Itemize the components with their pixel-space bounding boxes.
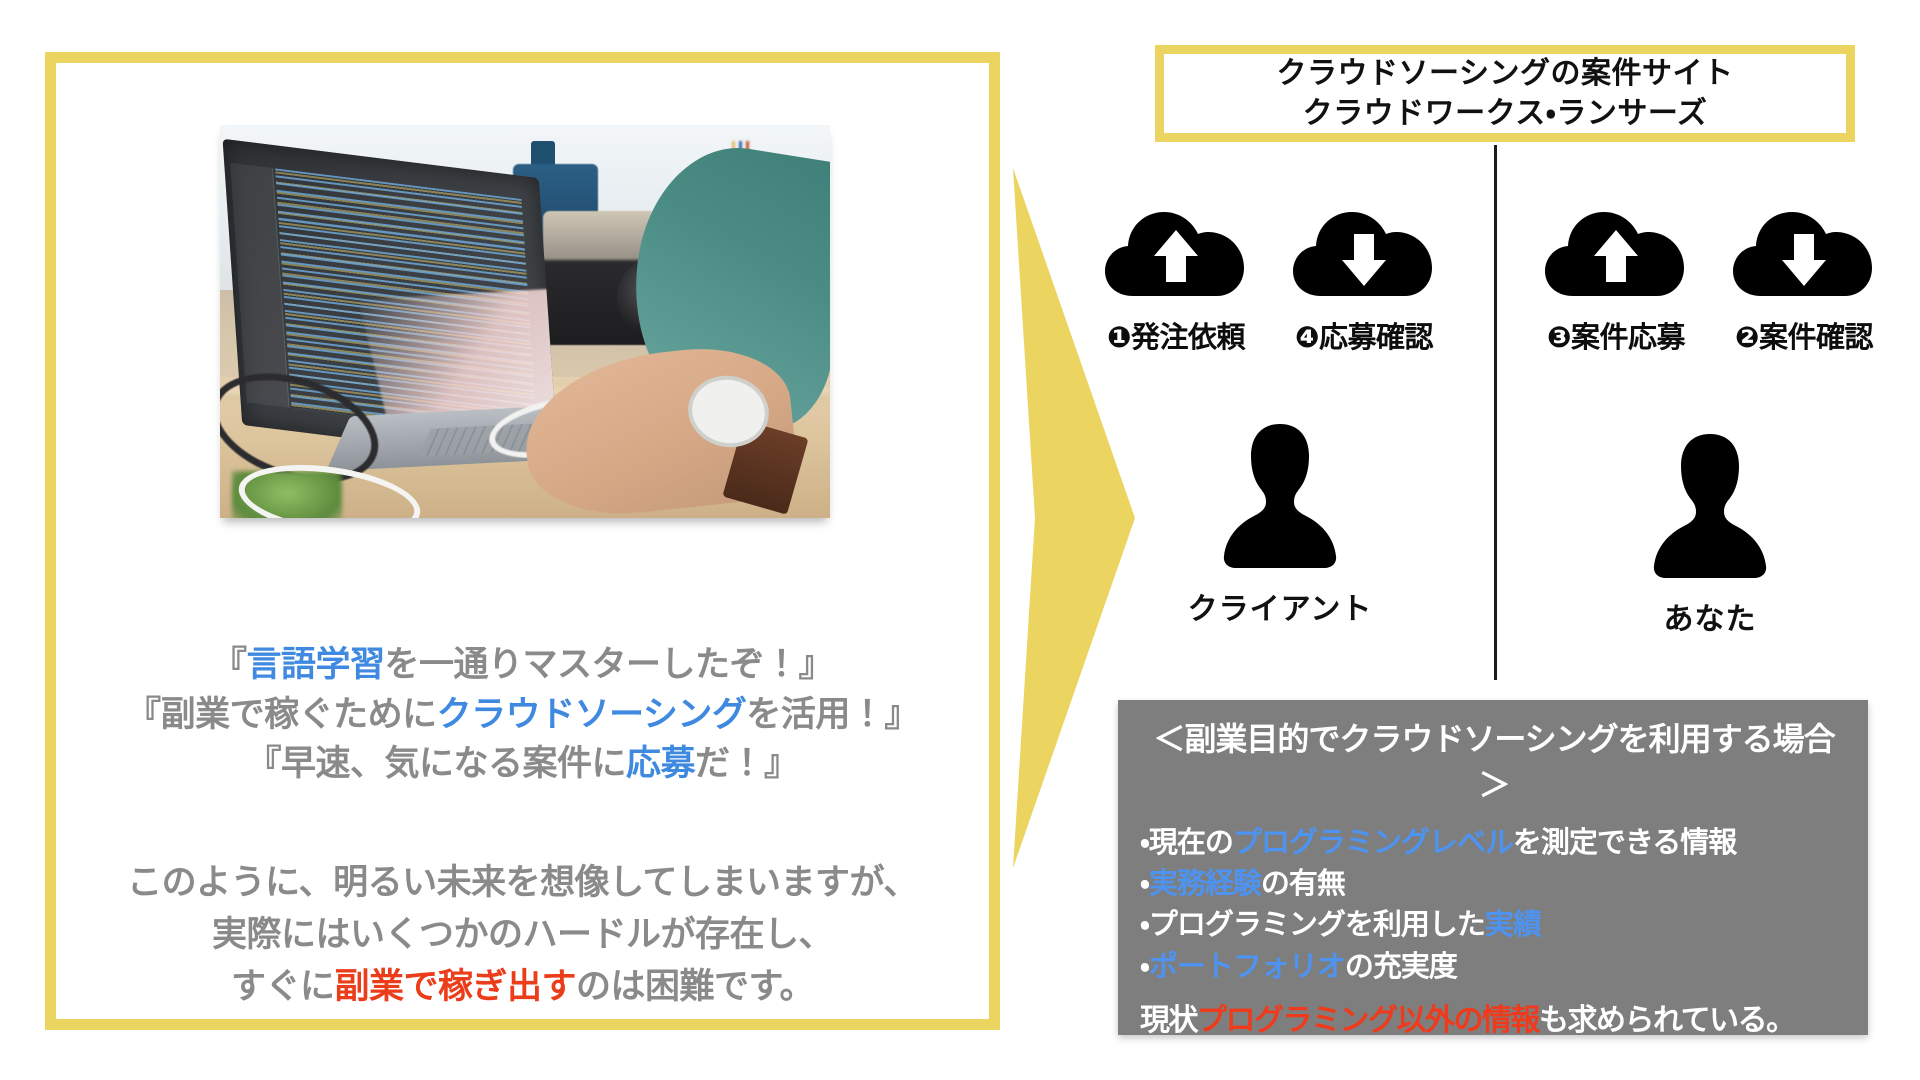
laptop-coding-photo: [220, 125, 830, 518]
notice-bullet: ・実務経験の有無: [1140, 863, 1848, 904]
text-run-2: の有無: [1261, 866, 1345, 900]
worker-flow-steps: ❸案件応募 ❷案件確認: [1540, 196, 1880, 356]
cloud-download-icon: [1288, 196, 1440, 306]
text-line: 『言語学習を一通りマスターしたぞ！』: [86, 641, 959, 691]
notice-box: ＜副業目的でクラウドソーシングを利用する場合＞ ・現在のプログラミングレベルを測…: [1118, 700, 1868, 1035]
text-run-1: 言語学習: [246, 645, 384, 685]
text-run-0: 『副業で稼ぐために: [126, 695, 437, 735]
text-line: 実際にはいくつかのハードルが存在し、: [86, 910, 959, 962]
text-run-0: ・: [1140, 866, 1149, 900]
text-run-2: を活用！』: [746, 695, 919, 735]
left-content-panel: 『言語学習を一通りマスターしたぞ！』『副業で稼ぐためにクラウドソーシングを活用！…: [45, 52, 1000, 1030]
text-run-2: も求められている。: [1539, 1003, 1795, 1038]
cloud-upload-icon: [1100, 196, 1252, 306]
photo-image: [220, 125, 830, 518]
text-run-1: プログラミング以外の情報: [1197, 1003, 1539, 1038]
notice-bullet: ・ポートフォリオの充実度: [1140, 946, 1848, 987]
text-run-2: を一通りマスターしたぞ！』: [385, 645, 834, 685]
quote-block: 『言語学習を一通りマスターしたぞ！』『副業で稼ぐためにクラウドソーシングを活用！…: [86, 641, 959, 790]
vertical-divider: [1494, 145, 1497, 680]
text-run-1: 副業で稼ぎ出す: [334, 967, 576, 1007]
person-silhouette-icon: [1216, 420, 1344, 570]
cloud-upload-icon: [1540, 196, 1692, 306]
actor-you: あなた: [1605, 430, 1815, 638]
text-run-1: ポートフォリオ: [1149, 949, 1345, 983]
text-run-0: ・プログラミングを利用した: [1140, 907, 1485, 941]
text-line: すぐに副業で稼ぎ出すのは困難です。: [86, 962, 959, 1014]
text-run-2: だ！』: [695, 744, 799, 784]
notice-bullet-list: ・現在のプログラミングレベルを測定できる情報・実務経験の有無・プログラミングを利…: [1140, 822, 1848, 987]
header-line-1: クラウドソーシングの案件サイト: [1277, 54, 1734, 94]
text-run-1: 応募: [626, 744, 695, 784]
flow-step-label: ❹応募確認: [1295, 314, 1433, 356]
flow-step: ❸案件応募: [1540, 196, 1692, 356]
flow-step: ❹応募確認: [1288, 196, 1440, 356]
header-line-2: クラウドワークス・ランサーズ: [1303, 94, 1708, 134]
client-flow-steps: ❶発注依頼 ❹応募確認: [1100, 196, 1440, 356]
platform-header-box: クラウドソーシングの案件サイト クラウドワークス・ランサーズ: [1155, 45, 1855, 142]
text-run-1: クラウドソーシング: [437, 695, 747, 735]
actor-label: クライアント: [1188, 584, 1373, 628]
text-run-1: 実務経験: [1149, 866, 1261, 900]
text-run-0: すぐに: [231, 967, 335, 1007]
text-run-0: 実際にはいくつかのハードルが存在し、: [212, 915, 833, 955]
actor-client: クライアント: [1175, 420, 1385, 628]
notice-footer: 現状プログラミング以外の情報も求められている。: [1140, 995, 1848, 1039]
text-line: 『副業で稼ぐためにクラウドソーシングを活用！』: [86, 691, 959, 741]
flow-step-label: ❶発注依頼: [1107, 314, 1245, 356]
text-run-1: プログラミングレベル: [1233, 825, 1513, 859]
notice-bullet: ・プログラミングを利用した実績: [1140, 904, 1848, 945]
conclusion-block: このように、明るい未来を想像してしまいますが、実際にはいくつかのハードルが存在し…: [86, 858, 959, 1013]
flow-step: ❶発注依頼: [1100, 196, 1252, 356]
text-run-0: このように、明るい未来を想像してしまいますが、: [127, 863, 918, 903]
actor-label: あなた: [1664, 594, 1757, 638]
text-run-2: のは困難です。: [576, 967, 814, 1007]
text-line: このように、明るい未来を想像してしまいますが、: [86, 858, 959, 910]
person-silhouette-icon: [1646, 430, 1774, 580]
text-run-0: ・: [1140, 949, 1149, 983]
flow-step: ❷案件確認: [1728, 196, 1880, 356]
cloud-download-icon: [1728, 196, 1880, 306]
text-run-2: を測定できる情報: [1513, 825, 1736, 859]
text-run-2: の充実度: [1345, 949, 1457, 983]
text-run-0: 『早速、気になる案件に: [246, 744, 626, 784]
notice-bullet: ・現在のプログラミングレベルを測定できる情報: [1140, 822, 1848, 863]
text-run-0: 現状: [1140, 1003, 1197, 1038]
flow-step-label: ❸案件応募: [1547, 314, 1685, 356]
text-run-0: 『: [212, 645, 247, 685]
text-run-1: 実績: [1485, 907, 1541, 941]
text-line: 『早速、気になる案件に応募だ！』: [86, 740, 959, 790]
flow-step-label: ❷案件確認: [1735, 314, 1873, 356]
text-run-0: ・現在の: [1140, 825, 1233, 859]
notice-title: ＜副業目的でクラウドソーシングを利用する場合＞: [1140, 714, 1848, 806]
